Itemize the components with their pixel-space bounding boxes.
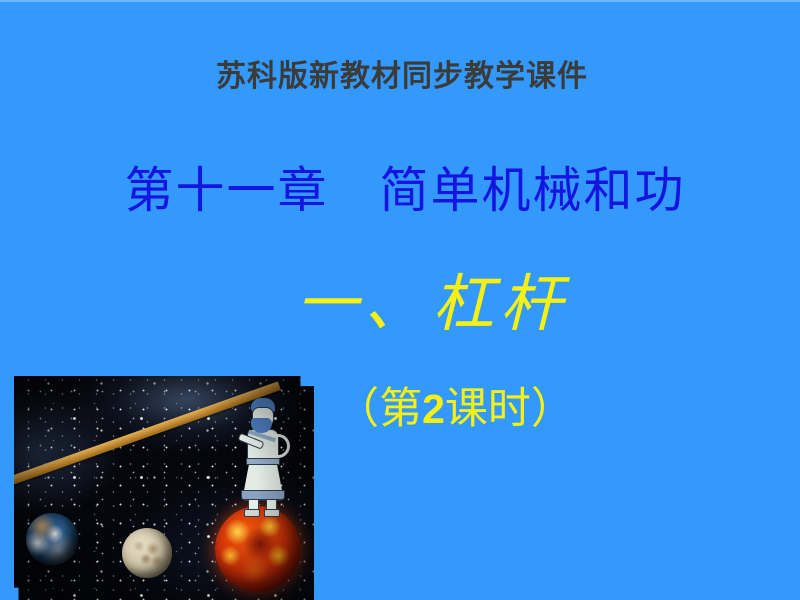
period-suffix: 课时）: [445, 386, 574, 433]
course-series-header: 苏科版新教材同步教学课件: [0, 62, 800, 92]
chapter-title: 第十一章 简单机械和功: [0, 166, 800, 215]
figure-left-foot: [244, 509, 260, 517]
archimedes-lever-illustration: [14, 376, 314, 600]
moon-icon: [122, 528, 172, 578]
earth-icon: [26, 513, 78, 565]
figure-robe-hem: [241, 490, 285, 500]
period-prefix: （第: [336, 386, 422, 433]
period-number: 2: [422, 386, 445, 432]
lesson-title: 一、杠杆: [0, 274, 800, 336]
presentation-slide: 苏科版新教材同步教学课件 第十一章 简单机械和功 一、杠杆 （第2课时）: [0, 0, 800, 600]
figure-right-foot: [264, 509, 280, 517]
archimedes-figure-icon: [231, 398, 295, 516]
sun-icon: [215, 506, 301, 592]
figure-belt: [246, 458, 280, 465]
figure-right-arm: [273, 434, 290, 458]
